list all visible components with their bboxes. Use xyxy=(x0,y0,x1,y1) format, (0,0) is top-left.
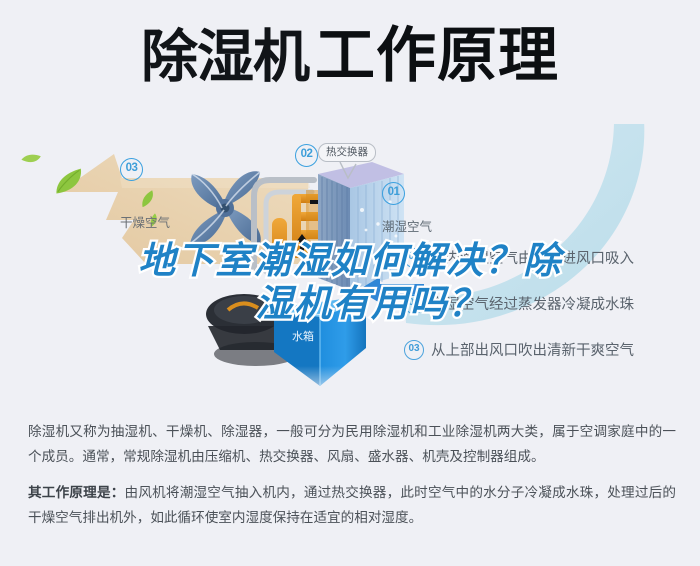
page-title: 除湿机工作原理 xyxy=(0,26,700,86)
step-badge-02: 02 xyxy=(404,294,424,314)
step-text-03: 从上部出风口吹出清新干爽空气 xyxy=(431,339,634,360)
page-title-part-1: 除湿机 xyxy=(141,24,309,90)
infographic-page: 除湿机工作原理 xyxy=(0,0,700,566)
step-item-01: 01 室内潮湿空气由下部进风口吸入 xyxy=(404,247,634,268)
dehumidifier-diagram: 热交换器 03 02 01 干燥空气 潮湿空气 水箱 01 室内潮湿空气由下部进… xyxy=(0,130,700,410)
step-text-01: 室内潮湿空气由下部进风口吸入 xyxy=(431,247,634,268)
step-badge-01: 01 xyxy=(404,248,424,268)
step-badge-03: 03 xyxy=(404,340,424,360)
body-paragraph-2-lead: 其工作原理是： xyxy=(28,485,125,501)
page-title-part-2: 工作原理 xyxy=(315,21,559,91)
body-paragraph-1: 除湿机又称为抽湿机、干燥机、除湿器，一般可分为民用除湿机和工业除湿机两大类，属于… xyxy=(28,420,676,470)
body-paragraph-2-rest: 由风机将潮湿空气抽入机内，通过热交换器，此时空气中的水分子冷凝成水珠，处理过后的… xyxy=(28,485,676,526)
body-paragraph-2: 其工作原理是：由风机将潮湿空气抽入机内，通过热交换器，此时空气中的水分子冷凝成水… xyxy=(28,481,676,531)
step-list: 01 室内潮湿空气由下部进风口吸入 02 潮湿空气经过蒸发器冷凝成水珠 03 从… xyxy=(0,130,700,410)
step-item-02: 02 潮湿空气经过蒸发器冷凝成水珠 xyxy=(404,293,634,314)
step-text-02: 潮湿空气经过蒸发器冷凝成水珠 xyxy=(431,293,634,314)
step-item-03: 03 从上部出风口吹出清新干爽空气 xyxy=(404,339,634,360)
article-body: 除湿机又称为抽湿机、干燥机、除湿器，一般可分为民用除湿机和工业除湿机两大类，属于… xyxy=(28,420,676,531)
